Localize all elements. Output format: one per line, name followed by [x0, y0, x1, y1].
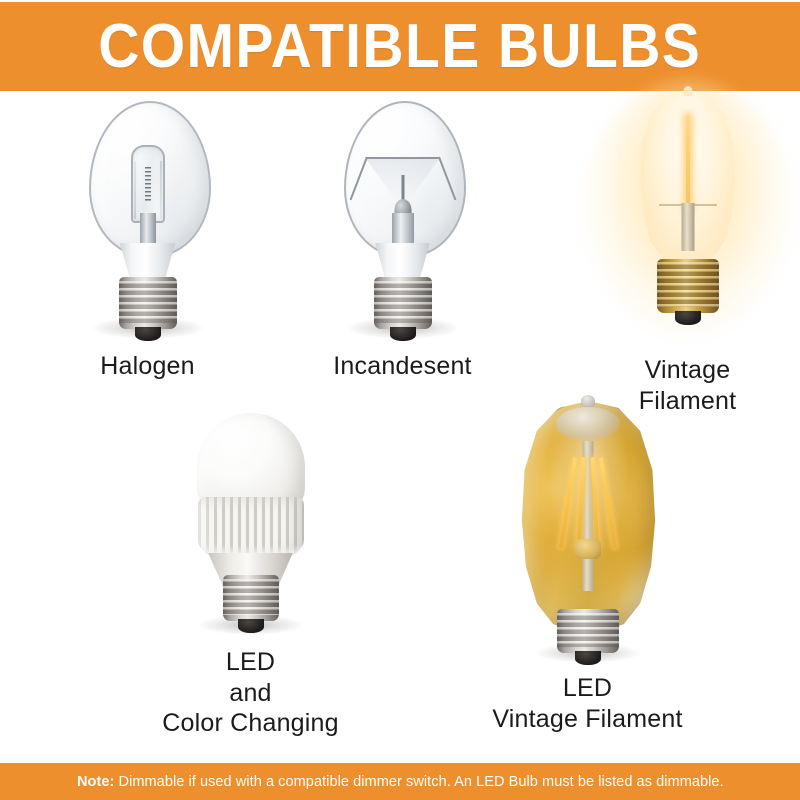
bulb-inner-cap [556, 407, 620, 441]
bulb-caption-led-vintage-filament: LED Vintage Filament [480, 673, 695, 734]
bulb-item-incandescent[interactable]: Incandesent [295, 101, 510, 382]
screw-base [223, 575, 279, 621]
caption-line: Halogen [40, 351, 255, 382]
vintage-filament-bulb-icon [640, 91, 736, 339]
screw-base [119, 277, 177, 329]
caption-line: Vintage [580, 355, 795, 386]
base-contact-tip [238, 619, 264, 633]
incandescent-bulb-icon [344, 101, 462, 333]
bulb-item-halogen[interactable]: Halogen [40, 101, 255, 382]
bulb-tip [581, 395, 595, 407]
base-contact-tip [675, 311, 701, 325]
base-contact-tip [135, 327, 161, 341]
filament-wire [686, 115, 690, 211]
caption-line: and [143, 678, 358, 709]
bulb-grid: Halogen Incandesent [0, 91, 800, 763]
bulb-stem [681, 203, 694, 251]
caption-line: Color Changing [143, 708, 358, 739]
filament-coil [145, 167, 151, 201]
screw-base [657, 259, 719, 313]
bulb-item-led-vintage-filament[interactable]: LED Vintage Filament [480, 401, 695, 734]
screw-base [557, 609, 619, 653]
led-bulb-icon [195, 413, 307, 631]
footer-note-bar: Note: Dimmable if used with a compatible… [0, 763, 800, 800]
bulb-item-vintage-filament[interactable]: Vintage Filament [580, 91, 795, 416]
note-label: Note: [77, 773, 114, 790]
base-contact-tip [390, 327, 416, 341]
header-banner: COMPATIBLE BULBS [0, 2, 800, 91]
caption-line: LED [480, 673, 695, 704]
caption-line: Incandesent [295, 351, 510, 382]
halogen-bulb-icon [89, 101, 207, 333]
base-contact-tip [575, 651, 601, 665]
led-filament-hub [575, 539, 601, 559]
caption-line: Vintage Filament [480, 704, 695, 735]
page-title: COMPATIBLE BULBS [98, 16, 701, 78]
footer-note-text: Note: Dimmable if used with a compatible… [77, 773, 724, 790]
bulb-item-led-color-changing[interactable]: LED and Color Changing [143, 413, 358, 739]
bulb-caption-led-color-changing: LED and Color Changing [143, 647, 358, 739]
bulb-caption-incandescent: Incandesent [295, 351, 510, 382]
led-heatsink-fins [198, 497, 304, 561]
bulb-caption-halogen: Halogen [40, 351, 255, 382]
screw-base [374, 277, 432, 329]
led-vintage-filament-bulb-icon [521, 401, 655, 659]
note-body: Dimmable if used with a compatible dimme… [114, 773, 723, 790]
caption-line: LED [143, 647, 358, 678]
bulb-tip [683, 86, 692, 96]
